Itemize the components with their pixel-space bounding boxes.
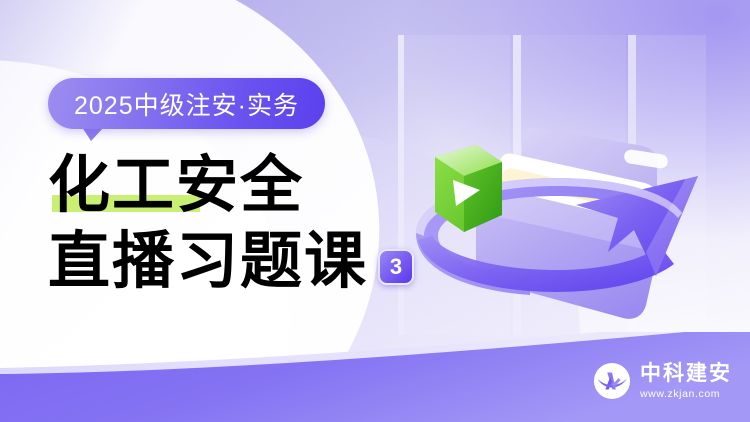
brand-logo[interactable]: 中科建安 www.zkjan.com [593, 362, 732, 400]
title-block: 化工安全 直播习题课 3 [48, 152, 414, 293]
illustration [380, 0, 750, 370]
logo-brand-name: 中科建安 [640, 362, 732, 385]
zkjan-circle-logo-icon [593, 362, 631, 400]
logo-text-block: 中科建安 www.zkjan.com [640, 362, 732, 399]
logo-website-url: www.zkjan.com [640, 388, 732, 400]
badge-tail [82, 127, 104, 141]
course-banner: 2025中级注安·实务 化工安全 直播习题课 3 中科建安 www [0, 0, 750, 422]
course-category-badge[interactable]: 2025中级注安·实务 [48, 78, 325, 129]
badge-label: 2025中级注安·实务 [74, 86, 299, 122]
episode-number-badge: 3 [378, 249, 414, 285]
title-line-1: 化工安全 [48, 152, 304, 218]
episode-number: 3 [390, 256, 402, 278]
title-line-2: 直播习题课 [48, 228, 368, 294]
title-line-1-row: 化工安全 [48, 152, 414, 218]
title-line-2-row: 直播习题课 3 [48, 228, 414, 294]
